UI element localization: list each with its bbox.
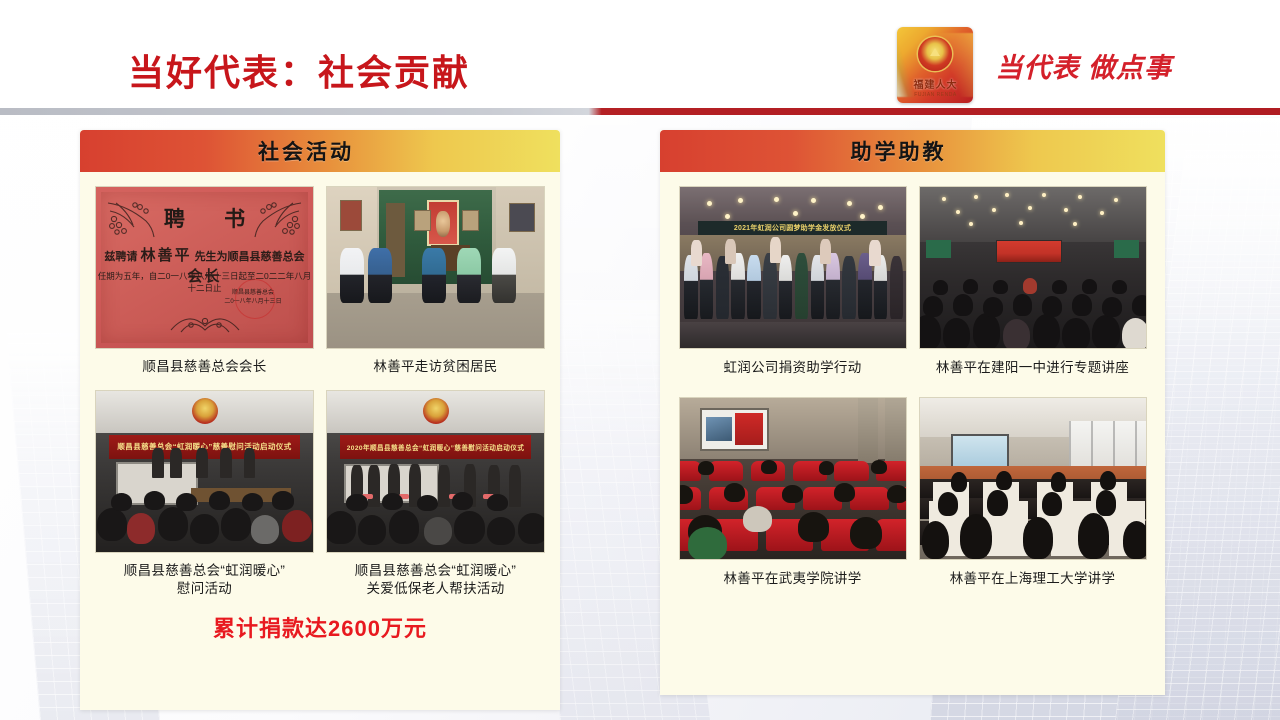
slide-canvas: 当好代表：社会贡献 福建人大 FUJIAN RENDA 当代表 做点事 社会活动	[0, 0, 1280, 720]
hall-seated-official-3	[196, 448, 208, 479]
logo-subtext: FUJIAN RENDA	[897, 92, 973, 98]
photo-cell-scholarship: 2021年虹润公司圆梦助学金发放仪式	[679, 186, 907, 377]
photo-cell-auditorium: 林善平在建阳一中进行专题讲座	[919, 186, 1147, 377]
certificate-name: 林善平	[140, 247, 191, 264]
panel-title-education: 助学助教	[851, 136, 947, 166]
photo-caption: 林善平在武夷学院讲学	[724, 570, 862, 588]
certificate-appointment-letter-photo: 聘 书 兹聘请 林善平 先生为顺昌县慈善总会 会长 任期为五年，自二0一八年八月…	[95, 186, 314, 349]
photo-cell-red-hall: 林善平在武夷学院讲学	[679, 397, 907, 588]
national-emblem-icon	[918, 37, 952, 71]
auditorium-side-display-left	[926, 240, 951, 258]
panel-body-education: 2021年虹润公司圆梦助学金发放仪式	[660, 172, 1165, 695]
home-person-5	[492, 248, 516, 303]
hall2-audience	[326, 481, 545, 552]
brand-slogan: 当代表 做点事	[995, 46, 1172, 85]
hall-seated-official-5	[244, 448, 256, 479]
home-person-2	[368, 248, 392, 303]
photo-cell-home-visit: 林善平走访贫困居民	[326, 186, 545, 376]
photo-caption: 顺昌县慈善总会“虹润暖心” 关爱低保老人帮扶活动	[355, 562, 516, 598]
hall-seated-official-4	[220, 448, 232, 479]
home-frame-c	[340, 200, 362, 231]
photo-caption: 顺昌县慈善总会“虹润暖心” 慰问活动	[124, 562, 285, 598]
header-divider-rule	[0, 108, 1280, 115]
group-banner: 2021年虹润公司圆梦助学金发放仪式	[698, 221, 888, 235]
auditorium-audience	[919, 261, 1147, 348]
redhall-projection-screen	[700, 408, 770, 451]
charity-award-ceremony-photo: 2020年顺昌县慈善总会“虹润暖心”慈善慰问活动启动仪式	[326, 390, 545, 553]
photo-caption: 顺昌县慈善总会会长	[142, 358, 266, 376]
certificate-stamp-icon	[235, 279, 275, 319]
hall2-national-emblem-icon	[423, 398, 449, 424]
classroom-lecture-photo	[919, 397, 1147, 560]
photo-row-1-right: 2021年虹润公司圆梦助学金发放仪式	[676, 186, 1149, 377]
charity-ceremony-hall-photo: 顺昌县慈善总会“虹润暖心”慈善慰问活动启动仪式	[95, 390, 314, 553]
group-ceiling	[680, 187, 906, 222]
brand-lockup: 福建人大 FUJIAN RENDA 当代表 做点事	[897, 27, 1172, 103]
certificate-prefix: 兹聘请	[104, 251, 137, 263]
photo-caption: 虹润公司捐资助学行动	[724, 359, 862, 377]
photo-cell-ceremony-1: 顺昌县慈善总会“虹润暖心”慈善慰问活动启动仪式	[95, 390, 314, 598]
hall2-red-banner: 2020年顺昌县慈善总会“虹润暖心”慈善慰问活动启动仪式	[340, 435, 531, 459]
fujian-renda-logo-icon: 福建人大 FUJIAN RENDA	[897, 27, 973, 103]
certificate-title: 聘 书	[96, 203, 313, 233]
slide-header: 当好代表：社会贡献 福建人大 FUJIAN RENDA 当代表 做点事	[0, 0, 1280, 110]
panel-title-social: 社会活动	[258, 136, 354, 166]
home-frame-a	[414, 210, 431, 231]
hall-seated-official-1	[152, 448, 164, 479]
certificate-seal: 顺昌县慈善总会 二0一八年八月十三日	[219, 289, 287, 323]
hall-audience	[95, 481, 314, 552]
home-person-4	[457, 248, 481, 303]
redhall-seating	[679, 453, 907, 559]
home-wall-portrait	[427, 200, 459, 246]
group-banner-text: 2021年虹润公司圆梦助学金发放仪式	[734, 223, 851, 233]
classroom-projection-screen	[951, 434, 1009, 470]
auditorium-side-display-right	[1114, 240, 1139, 258]
home-person-3	[422, 248, 446, 303]
scholarship-group-photo: 2021年虹润公司圆梦助学金发放仪式	[679, 186, 907, 349]
home-person-1	[340, 248, 364, 303]
panel-education-aid: 助学助教 2021年虹润公司圆梦助学金发放仪式	[660, 130, 1165, 695]
panel-header-social: 社会活动	[80, 130, 560, 172]
photo-cell-ceremony-2: 2020年顺昌县慈善总会“虹润暖心”慈善慰问活动启动仪式	[326, 390, 545, 598]
hall-seated-official-2	[170, 448, 182, 479]
header-divider-highlight	[0, 115, 1280, 117]
auditorium-stage-screen	[996, 240, 1061, 263]
redhall-slide-image	[706, 417, 732, 441]
photo-caption: 林善平在上海理工大学讲学	[950, 570, 1116, 588]
photo-cell-certificate: 聘 书 兹聘请 林善平 先生为顺昌县慈善总会 会长 任期为五年，自二0一八年八月…	[95, 186, 314, 376]
page-title: 当好代表：社会贡献	[128, 44, 470, 96]
large-auditorium-lecture-photo	[919, 186, 1147, 349]
hall2-banner-text: 2020年顺昌县慈善总会“虹润暖心”慈善慰问活动启动仪式	[347, 442, 525, 452]
auditorium-ceiling	[920, 187, 1146, 242]
photo-caption: 林善平走访贫困居民	[373, 358, 497, 376]
rural-home-visit-photo	[326, 186, 545, 349]
panel-header-education: 助学助教	[660, 130, 1165, 172]
group-stage-floor	[680, 322, 906, 348]
red-seat-lecture-hall-photo	[679, 397, 907, 560]
home-frame-d	[509, 203, 535, 232]
home-frame-b	[462, 210, 479, 231]
panel-body-social: 聘 书 兹聘请 林善平 先生为顺昌县慈善总会 会长 任期为五年，自二0一八年八月…	[80, 172, 560, 710]
photo-row-2-left: 顺昌县慈善总会“虹润暖心”慈善慰问活动启动仪式	[96, 390, 544, 598]
photo-row-1-left: 聘 书 兹聘请 林善平 先生为顺昌县慈善总会 会长 任期为五年，自二0一八年八月…	[96, 186, 544, 376]
hall-national-emblem-icon	[192, 398, 218, 424]
photo-row-2-right: 林善平在武夷学院讲学	[676, 397, 1149, 588]
redhall-slide-panel	[735, 413, 764, 445]
certificate-suffix: 先生为顺昌县慈善总会	[195, 251, 305, 263]
logo-text: 福建人大	[897, 76, 973, 91]
photo-cell-classroom: 林善平在上海理工大学讲学	[919, 397, 1147, 588]
donation-total-text: 累计捐款达2600万元	[96, 611, 544, 643]
panel-social-activities: 社会活动	[80, 130, 560, 710]
photo-caption: 林善平在建阳一中进行专题讲座	[936, 359, 1129, 377]
